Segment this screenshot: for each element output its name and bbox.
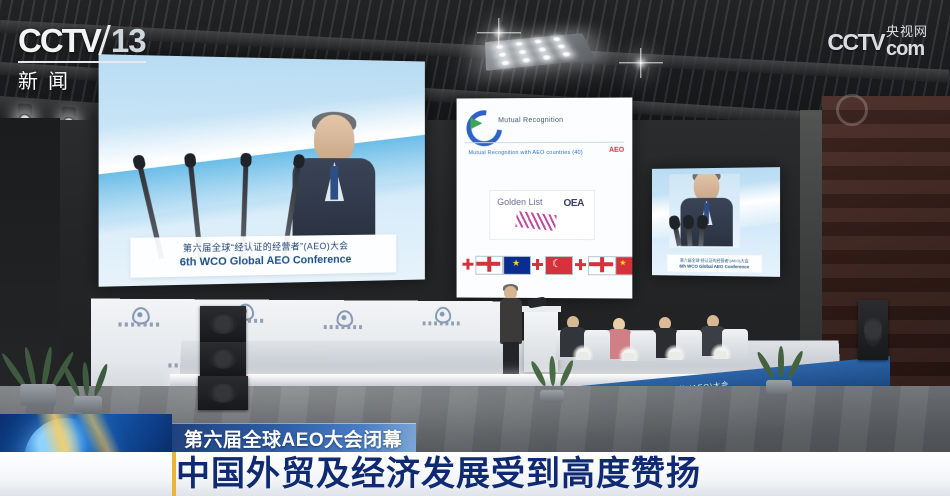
flag-row (463, 256, 627, 277)
projection-screen-center: Mutual Recognition Mutual Recognition wi… (457, 97, 633, 298)
channel-name-cn: 新闻 (18, 65, 158, 94)
slide-divider (464, 142, 624, 144)
slide-bullet-text: Mutual Recognition with AEO countries (4… (468, 150, 582, 156)
watermark-name-cn: 央视网 (886, 25, 928, 39)
channel-bug: CCTV13 新闻 (18, 22, 158, 80)
stage-plant (534, 356, 574, 402)
slide-certificate-card: Golden List OEA (489, 190, 595, 240)
channel-logo: CCTV13 (18, 22, 158, 60)
lens-flare (640, 62, 642, 64)
table-flowers (572, 344, 594, 360)
table-flowers (664, 344, 686, 360)
slide-org-left: Golden List (497, 197, 542, 207)
table-flowers (618, 345, 640, 361)
flag-china (615, 256, 632, 275)
flag-georgia (588, 256, 616, 275)
network-name: CCTV (18, 22, 100, 59)
table-flowers (710, 343, 732, 359)
channel-number: 13 (111, 22, 146, 59)
speaker-at-podium (500, 286, 522, 378)
flag-european-union (503, 256, 531, 275)
loudspeaker (200, 342, 246, 376)
signature-mark (515, 211, 556, 231)
slide-org-right: OEA (564, 198, 585, 209)
potted-plant (66, 352, 110, 412)
screen-caption-en: 6th WCO Global AEO Conference (137, 252, 391, 271)
network-watermark: CCTV 央视网 com (827, 24, 928, 60)
screen-caption-right: 第六届全球“经认证的经营者”(AEO)大会 6th WCO Global AEO… (667, 255, 762, 273)
screen-caption-left: 第六届全球“经认证的经营者”(AEO)大会 6th WCO Global AEO… (130, 235, 396, 278)
kicker-text: 第六届全球AEO大会闭幕 (184, 425, 402, 452)
mutual-recognition-logo-icon (466, 110, 492, 136)
broadcast-frame: 第六届全球“经认证的经营者”(AEO)大会 6th WCO Global AEO… (0, 0, 950, 496)
loudspeaker (198, 376, 248, 410)
watermark-brand: CCTV (827, 29, 884, 56)
lower-third: 第六届全球AEO大会闭幕 中国外贸及经济发展受到高度赞扬 (0, 414, 950, 496)
slide-aeo-badge: AEO (609, 147, 624, 154)
lower-third-headline-bar: 中国外贸及经济发展受到高度赞扬 (0, 452, 950, 496)
logo-divider (18, 61, 146, 63)
projection-screen-right: 第六届全球“经认证的经营者”(AEO)大会 6th WCO Global AEO… (652, 167, 780, 277)
slide-title: Mutual Recognition (498, 117, 563, 124)
ceiling-light-fixture (485, 33, 595, 71)
headline-accent-bar (172, 452, 176, 496)
flag-georgia (475, 256, 503, 275)
stage-plant (760, 340, 804, 394)
lower-third-kicker: 第六届全球AEO大会闭幕 (172, 423, 416, 452)
headline-text: 中国外贸及经济发展受到高度赞扬 (176, 457, 701, 491)
right-screen-caption-en: 6th WCO Global AEO Conference (669, 264, 760, 270)
flag-turkey (545, 256, 573, 275)
right-screen-video-feed (669, 174, 740, 248)
loudspeaker (858, 300, 888, 360)
lens-flare (498, 32, 500, 34)
potted-plant (12, 330, 66, 406)
loudspeaker (200, 306, 246, 342)
watermark-domain: com (886, 39, 924, 59)
